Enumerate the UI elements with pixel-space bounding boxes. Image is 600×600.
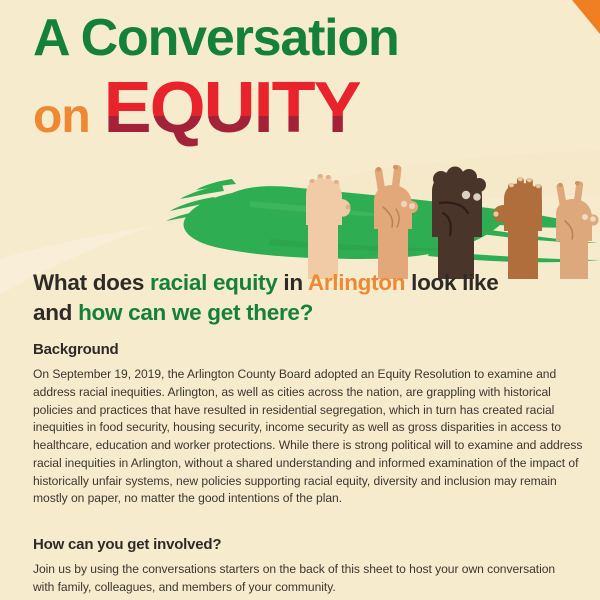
headline-line-2: onEQUITY (33, 72, 360, 140)
corner-wedge-shape (572, 0, 600, 34)
background-section-body: On September 19, 2019, the Arlington Cou… (33, 366, 586, 508)
involved-section-body: Join us by using the conversations start… (33, 561, 573, 597)
hand-peace-sign-tan-2 (556, 181, 599, 279)
involved-section-title: How can you get involved? (33, 536, 221, 553)
question-part-1: What does (33, 270, 150, 295)
question-part-3: in (277, 270, 307, 295)
headline-line-1: A Conversation (33, 12, 399, 64)
question-headline: What does racial equity in Arlington loo… (33, 268, 503, 328)
headline-word-equity: EQUITY (104, 68, 360, 148)
hand-peace-sign-tan (374, 165, 418, 279)
question-part-arlington: Arlington (308, 270, 405, 295)
question-part-racial-equity: racial equity (150, 270, 277, 295)
equity-poster: A Conversation onEQUITY (0, 0, 600, 600)
hand-open-palm-brown (493, 177, 542, 279)
headline-word-on: on (33, 90, 90, 143)
question-part-how-can-we-get-there: how can we get there? (78, 300, 313, 325)
raised-hands-illustration (0, 155, 600, 280)
hand-raised-fist-dark (432, 167, 486, 280)
background-section-title: Background (33, 341, 119, 358)
